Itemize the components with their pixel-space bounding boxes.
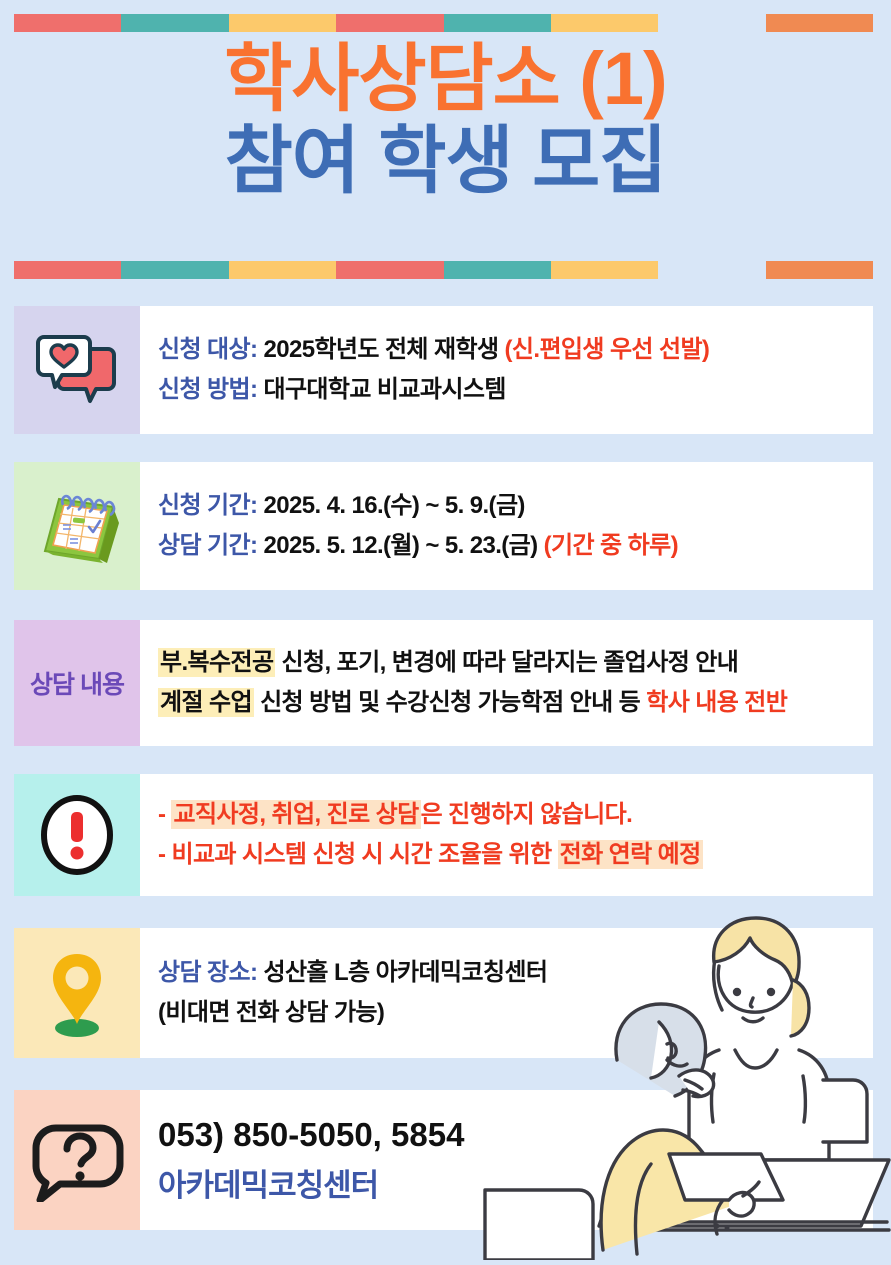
info-row-notice: - 교직사정, 취업, 진로 상담은 진행하지 않습니다. - 비교과 시스템 … — [14, 774, 873, 896]
info-row-application-text: 신청 대상: 2025학년도 전체 재학생 (신.편입생 우선 선발) 신청 방… — [140, 306, 873, 434]
stripe-segment — [14, 14, 121, 32]
title-line-1: 학사상담소 (1) — [0, 42, 891, 116]
label-application-method: 신청 방법: — [158, 376, 257, 403]
info-row-location: 상담 장소: 성산홀 L층 아카데믹코칭센터 (비대면 전화 상담 가능) — [14, 928, 873, 1058]
contact-phone-number: 053) 850-5050, 5854 — [158, 1113, 873, 1157]
value-location-note: (비대면 전화 상담 가능) — [158, 999, 384, 1026]
stripe-segment — [14, 261, 121, 279]
stripe-segment — [551, 261, 658, 279]
info-row-contents-text: 부.복수전공 신청, 포기, 변경에 따라 달라지는 졸업사정 안내 계절 수업… — [140, 620, 873, 746]
stripe-segment — [229, 14, 336, 32]
stripe-segment — [766, 261, 873, 279]
question-speech-bubble-icon — [14, 1090, 140, 1230]
line-notice-1: - 교직사정, 취업, 진로 상담은 진행하지 않습니다. — [158, 795, 873, 835]
line-application-target: 신청 대상: 2025학년도 전체 재학생 (신.편입생 우선 선발) — [158, 330, 873, 370]
contact-office-name: 아카데믹코칭센터 — [158, 1157, 873, 1208]
info-row-contents: 상담 내용 부.복수전공 신청, 포기, 변경에 따라 달라지는 졸업사정 안내… — [14, 620, 873, 746]
dash-notice-2: - — [158, 841, 171, 868]
line-counseling-period: 상담 기간: 2025. 5. 12.(월) ~ 5. 23.(금) (기간 중… — [158, 526, 873, 566]
stripe-segment — [229, 261, 336, 279]
value-application-period: 2025. 4. 16.(수) ~ 5. 9.(금) — [257, 492, 524, 519]
rest-notice-1: 은 진행하지 않습니다. — [421, 801, 633, 828]
highlight-excluded-topics: 교직사정, 취업, 진로 상담 — [171, 800, 420, 829]
title-line-2: 참여 학생 모집 — [0, 124, 891, 198]
note-application-target: (신.편입생 우선 선발) — [505, 336, 710, 363]
map-pin-icon — [14, 928, 140, 1058]
info-row-period-text: 신청 기간: 2025. 4. 16.(수) ~ 5. 9.(금) 상담 기간:… — [140, 462, 873, 590]
stripe-segment — [121, 261, 228, 279]
highlight-double-major: 부.복수전공 — [158, 648, 275, 677]
highlight-phone-contact: 전화 연락 예정 — [558, 840, 703, 869]
info-row-notice-text: - 교직사정, 취업, 진로 상담은 진행하지 않습니다. - 비교과 시스템 … — [140, 774, 873, 896]
stripe-segment — [336, 14, 443, 32]
info-row-contact-text: 053) 850-5050, 5854 아카데믹코칭센터 — [140, 1090, 873, 1230]
label-application-target: 신청 대상: — [158, 336, 257, 363]
poster-root: 학사상담소 (1) 참여 학생 모집 신청 대상: 2025학년도 전체 재학생… — [0, 0, 891, 1260]
line-contents-1: 부.복수전공 신청, 포기, 변경에 따라 달라지는 졸업사정 안내 — [158, 643, 873, 683]
line-notice-2: - 비교과 시스템 신청 시 시간 조율을 위한 전화 연락 예정 — [158, 835, 873, 875]
value-application-target: 2025학년도 전체 재학생 — [257, 336, 504, 363]
info-row-location-text: 상담 장소: 성산홀 L층 아카데믹코칭센터 (비대면 전화 상담 가능) — [140, 928, 873, 1058]
line-application-method: 신청 방법: 대구대학교 비교과시스템 — [158, 370, 873, 410]
rest-contents-1: 신청, 포기, 변경에 따라 달라지는 졸업사정 안내 — [275, 649, 738, 676]
info-row-application: 신청 대상: 2025학년도 전체 재학생 (신.편입생 우선 선발) 신청 방… — [14, 306, 873, 434]
decorative-stripe-top — [14, 14, 873, 32]
stripe-segment — [658, 14, 765, 32]
value-application-method: 대구대학교 비교과시스템 — [257, 376, 505, 403]
value-location-place: 성산홀 L층 아카데믹코칭센터 — [257, 959, 547, 986]
label-application-period: 신청 기간: — [158, 492, 257, 519]
note-contents-2: 학사 내용 전반 — [646, 689, 787, 716]
line-application-period: 신청 기간: 2025. 4. 16.(수) ~ 5. 9.(금) — [158, 486, 873, 526]
dash-notice-1: - — [158, 801, 171, 828]
rest-contents-2: 신청 방법 및 수강신청 가능학점 안내 등 — [254, 689, 646, 716]
exclamation-circle-icon — [14, 774, 140, 896]
label-counseling-period: 상담 기간: — [158, 532, 257, 559]
section-label-counseling-contents: 상담 내용 — [14, 620, 140, 746]
stripe-segment — [766, 14, 873, 32]
stripe-segment — [444, 14, 551, 32]
poster-title: 학사상담소 (1) 참여 학생 모집 — [0, 42, 891, 198]
note-counseling-period: (기간 중 하루) — [544, 532, 678, 559]
label-location-place: 상담 장소: — [158, 959, 257, 986]
decorative-stripe-bottom — [14, 261, 873, 279]
stripe-segment — [551, 14, 658, 32]
stripe-segment — [658, 261, 765, 279]
stripe-segment — [336, 261, 443, 279]
info-row-period: 신청 기간: 2025. 4. 16.(수) ~ 5. 9.(금) 상담 기간:… — [14, 462, 873, 590]
info-row-contact: 053) 850-5050, 5854 아카데믹코칭센터 — [14, 1090, 873, 1230]
line-location-note: (비대면 전화 상담 가능) — [158, 993, 873, 1033]
value-counseling-period: 2025. 5. 12.(월) ~ 5. 23.(금) — [257, 532, 543, 559]
line-location-place: 상담 장소: 성산홀 L층 아카데믹코칭센터 — [158, 953, 873, 993]
rest-notice-2: 비교과 시스템 신청 시 시간 조율을 위한 — [171, 841, 557, 868]
stripe-segment — [444, 261, 551, 279]
section-label-text: 상담 내용 — [30, 665, 124, 701]
highlight-seasonal-class: 계절 수업 — [158, 688, 254, 717]
desk-calendar-icon — [14, 462, 140, 590]
stripe-segment — [121, 14, 228, 32]
line-contents-2: 계절 수업 신청 방법 및 수강신청 가능학점 안내 등 학사 내용 전반 — [158, 683, 873, 723]
speech-bubbles-heart-icon — [14, 306, 140, 434]
